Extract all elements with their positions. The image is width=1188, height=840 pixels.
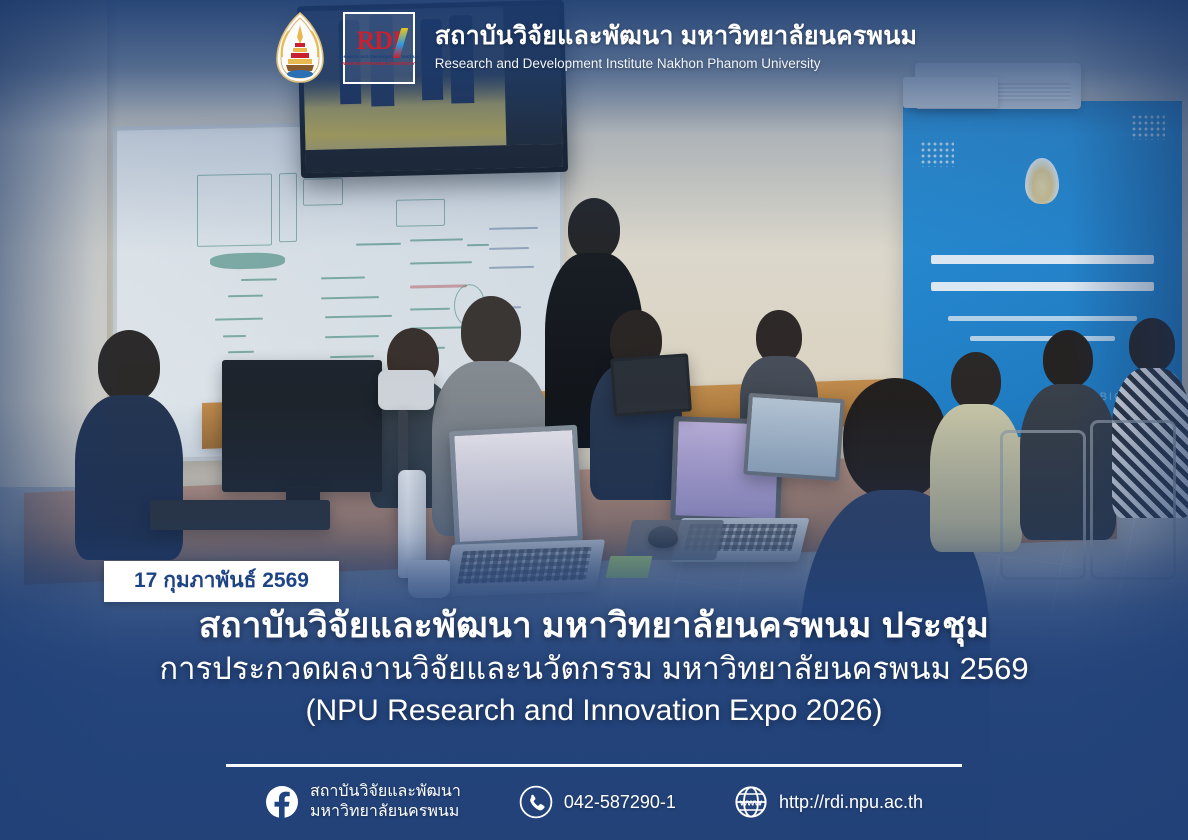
facebook-icon <box>265 785 299 819</box>
phone-icon <box>519 785 553 819</box>
footer-contact-bar: สถาบันวิจัยและพัฒนา มหาวิทยาลัยนครพนม 04… <box>0 782 1188 823</box>
laptop-screen-back <box>610 353 692 416</box>
contact-phone[interactable]: 042-587290-1 <box>519 785 676 819</box>
header-bar: RDI Research and Development Institute N… <box>0 0 1188 96</box>
rdi-logo-subtitle-en: Research and Development Institute <box>337 54 420 61</box>
header-titles: สถาบันวิจัยและพัฒนา มหาวิทยาลัยนครพนม Re… <box>435 22 917 74</box>
keyboard <box>150 500 330 530</box>
footer-divider <box>226 764 962 767</box>
laptop-screen-right <box>743 393 844 481</box>
computer-mouse <box>648 526 678 548</box>
rdi-logo: RDI Research and Development Institute N… <box>343 12 415 84</box>
laptop-keyboard-left <box>443 539 605 596</box>
contact-website-label: http://rdi.npu.ac.th <box>779 791 923 814</box>
sticky-note <box>606 556 653 578</box>
contact-phone-label: 042-587290-1 <box>564 791 676 814</box>
header-title-thai: สถาบันวิจัยและพัฒนา มหาวิทยาลัยนครพนม <box>435 22 917 52</box>
header-title-english: Research and Development Institute Nakho… <box>435 54 917 74</box>
rdi-logo-subtitle-univ: NAKHON PHANOM UNIVERSITY <box>342 61 415 68</box>
contact-facebook-label: สถาบันวิจัยและพัฒนา มหาวิทยาลัยนครพนม <box>310 782 461 823</box>
headline-line-2: การประกวดผลงานวิจัยและนวัตกรรม มหาวิทยาล… <box>0 649 1188 690</box>
contact-website[interactable]: www http://rdi.npu.ac.th <box>734 785 923 819</box>
npu-crest-icon <box>271 11 329 85</box>
headline-block: สถาบันวิจัยและพัฒนา มหาวิทยาลัยนครพนม ปร… <box>0 604 1188 731</box>
headline-line-3: (NPU Research and Innovation Expo 2026) <box>0 691 1188 731</box>
svg-text:www: www <box>739 798 763 809</box>
headline-line-1: สถาบันวิจัยและพัฒนา มหาวิทยาลัยนครพนม ปร… <box>0 604 1188 647</box>
coffee-mug <box>408 560 450 598</box>
globe-www-icon: www <box>734 785 768 819</box>
laptop-screen-left <box>449 425 583 548</box>
chair <box>1000 430 1086 580</box>
chair <box>1090 420 1176 580</box>
event-announcement-banner: BIG DATA <box>0 0 1188 840</box>
contact-facebook[interactable]: สถาบันวิจัยและพัฒนา มหาวิทยาลัยนครพนม <box>265 782 461 823</box>
date-badge: 17 กุมภาพันธ์ 2569 <box>104 561 339 602</box>
desktop-monitor <box>222 360 382 492</box>
date-badge-label: 17 กุมภาพันธ์ 2569 <box>134 569 309 592</box>
conference-camera <box>378 370 434 410</box>
